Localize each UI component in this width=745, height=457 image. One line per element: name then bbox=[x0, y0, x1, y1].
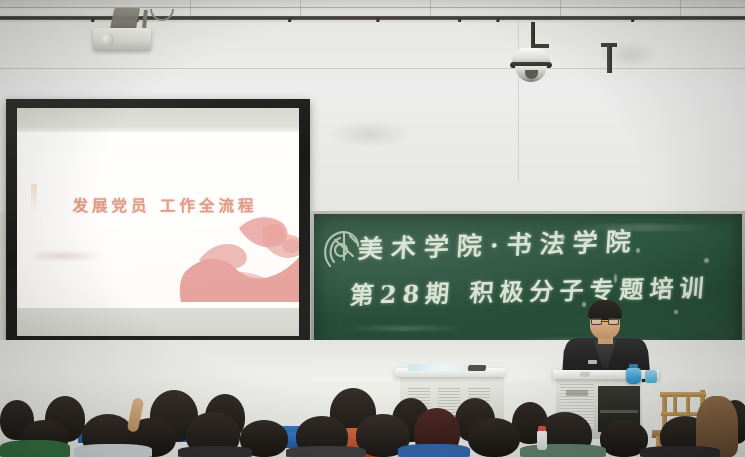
chair-slat bbox=[673, 396, 677, 414]
slide-wisp bbox=[35, 250, 105, 262]
projection-screen-frame: 发展党员 工作全流程 bbox=[6, 99, 310, 345]
audience-shoulders bbox=[640, 446, 720, 457]
wall-smudge bbox=[330, 120, 410, 148]
chalk-dust bbox=[659, 288, 665, 294]
chalk-dust bbox=[614, 274, 617, 283]
presenter-badge bbox=[588, 360, 597, 364]
audience-shoulders bbox=[74, 444, 152, 457]
wall-mount-post bbox=[607, 45, 612, 73]
audience-shoulders bbox=[398, 444, 470, 457]
podium-shelf bbox=[600, 410, 638, 413]
desk-object bbox=[580, 372, 590, 377]
chalk-streak bbox=[344, 326, 464, 331]
projector-mount bbox=[110, 8, 141, 30]
presenter-hair bbox=[588, 300, 622, 320]
wall-strip bbox=[311, 355, 745, 381]
chalk-dust bbox=[704, 258, 709, 263]
projection-screen-surface: 发展党员 工作全流程 bbox=[17, 108, 299, 336]
classroom-photo: 发展党员 工作全流程 bbox=[0, 0, 745, 457]
paper-stack bbox=[407, 364, 472, 371]
chair-slat bbox=[686, 396, 690, 414]
audience-shoulders bbox=[286, 446, 366, 457]
wall-seam bbox=[518, 22, 519, 182]
chalk-dust bbox=[636, 248, 640, 253]
paper-stack bbox=[592, 371, 619, 377]
chalk-dust bbox=[582, 302, 586, 307]
desk-object bbox=[468, 365, 487, 371]
chair-rail bbox=[660, 392, 706, 397]
slide-corner-mark bbox=[31, 184, 37, 212]
chalk-dust bbox=[674, 310, 678, 314]
ceiling-seam bbox=[0, 7, 745, 8]
audience-shoulders bbox=[520, 444, 606, 457]
projector-lens-icon bbox=[101, 33, 114, 46]
slide: 发展党员 工作全流程 bbox=[17, 132, 299, 308]
water-bottle bbox=[645, 370, 657, 383]
water-bottle bbox=[626, 368, 641, 384]
chalk-streak bbox=[574, 224, 714, 231]
audience-head bbox=[468, 418, 520, 457]
blackboard-line-2: 第28期 积极分子专题培训 bbox=[349, 268, 712, 311]
glasses-icon bbox=[591, 318, 619, 325]
podium-label bbox=[566, 390, 588, 396]
blackboard: 美术学院·书法学院 第28期 积极分子专题培训 bbox=[314, 214, 742, 355]
chalk-dust bbox=[560, 234, 565, 241]
water-bottle bbox=[537, 430, 547, 450]
bottle-cap bbox=[538, 426, 546, 431]
audience-shoulders bbox=[178, 446, 252, 457]
audience-shoulders bbox=[0, 440, 70, 457]
red-ribbon-graphic bbox=[177, 210, 299, 302]
